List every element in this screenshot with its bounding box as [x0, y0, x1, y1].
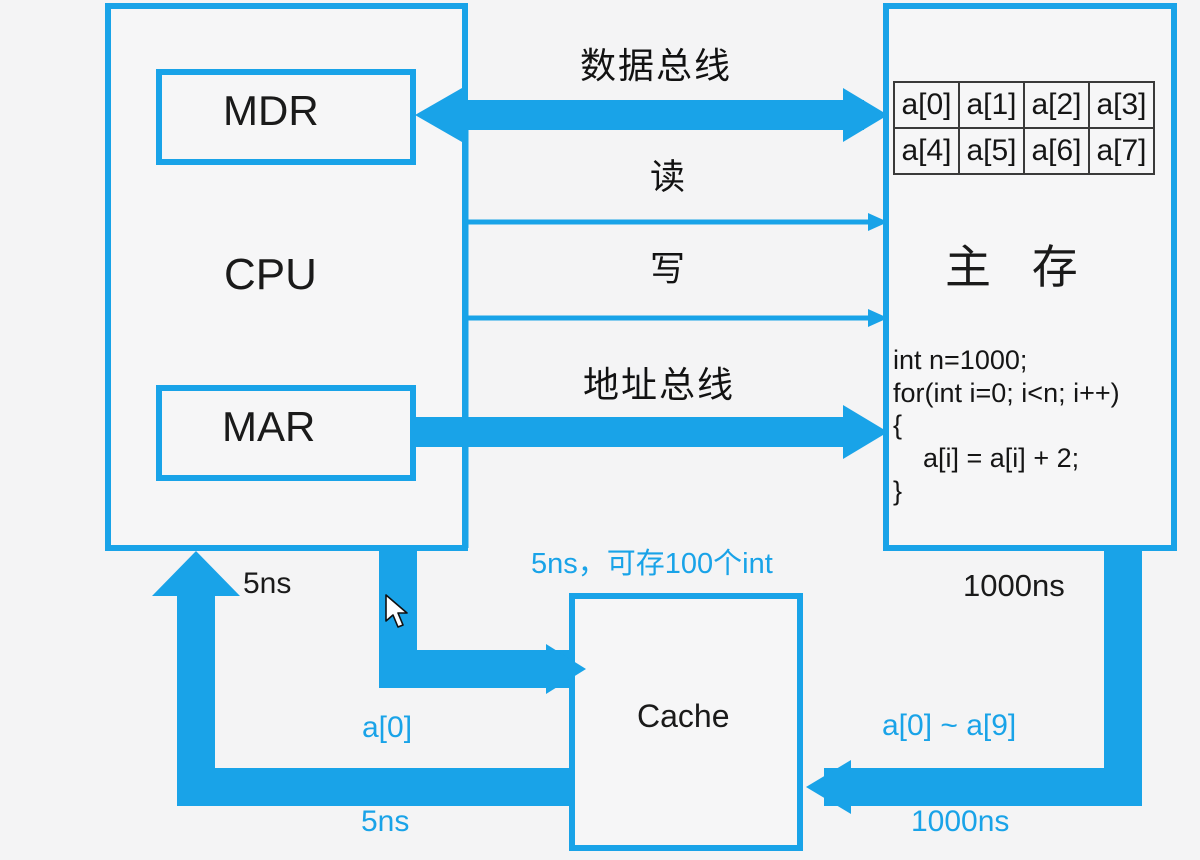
memory-cell: a[7]	[1090, 129, 1155, 175]
memory-to-cache-time-label: 1000ns	[911, 807, 1009, 837]
code-line: for(int i=0; i<n; i++)	[893, 377, 1168, 410]
cache-to-cpu-time-label: 5ns	[361, 807, 409, 837]
memory-to-cache-data-label: a[0] ~ a[9]	[882, 711, 1016, 741]
read-bus-arrow	[466, 213, 888, 231]
memory-cell: a[3]	[1090, 83, 1155, 129]
write-bus-arrow	[466, 309, 888, 327]
data-bus-arrow	[415, 88, 888, 142]
mar-label: MAR	[222, 406, 315, 448]
memory-cell-grid: a[0] a[1] a[2] a[3] a[4] a[5] a[6] a[7]	[893, 81, 1155, 175]
main-memory-label: 主 存	[945, 244, 1092, 290]
memory-cell: a[2]	[1025, 83, 1090, 129]
memory-code-block: int n=1000; for(int i=0; i<n; i++) { a[i…	[893, 344, 1168, 507]
memory-latency-label: 1000ns	[963, 570, 1065, 601]
diagram-canvas: .bx { fill:#f6f6f7; stroke:#19a3e8; stro…	[0, 0, 1200, 860]
memory-cell: a[0]	[895, 83, 960, 129]
code-line: int n=1000;	[893, 344, 1168, 377]
address-bus-label: 地址总线	[583, 367, 735, 403]
memory-cell-row: a[0] a[1] a[2] a[3]	[895, 83, 1155, 129]
memory-cell-row: a[4] a[5] a[6] a[7]	[895, 129, 1155, 175]
memory-cell: a[6]	[1025, 129, 1090, 175]
code-line: a[i] = a[i] + 2;	[893, 442, 1168, 475]
memory-cell: a[5]	[960, 129, 1025, 175]
address-bus-arrow	[413, 318, 888, 548]
mouse-cursor-icon	[385, 594, 411, 630]
memory-cell: a[4]	[895, 129, 960, 175]
cache-capacity-note: 5ns，可存100个int	[531, 550, 773, 579]
cache-label: Cache	[637, 700, 730, 732]
mdr-label: MDR	[223, 90, 319, 132]
cpu-latency-label: 5ns	[243, 569, 291, 599]
read-bus-label: 读	[650, 160, 685, 195]
write-bus-label: 写	[650, 252, 685, 287]
code-line: }	[893, 475, 1168, 508]
code-line: {	[893, 409, 1168, 442]
memory-cell: a[1]	[960, 83, 1025, 129]
data-bus-label: 数据总线	[580, 48, 732, 84]
cache-to-cpu-data-label: a[0]	[362, 713, 412, 743]
cpu-label: CPU	[224, 253, 317, 297]
